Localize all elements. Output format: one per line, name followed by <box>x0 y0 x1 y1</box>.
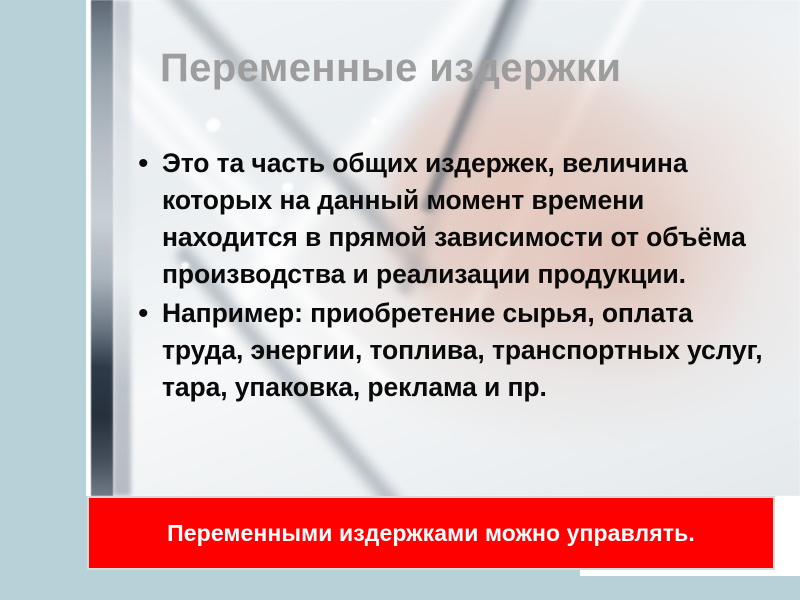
callout-banner: Переменными издержками можно управлять. <box>87 496 775 570</box>
list-item: • Это та часть общих издержек, величина … <box>138 145 766 293</box>
photo-left-accent-bar <box>91 0 113 496</box>
list-item: • Например: приобретение сырья, оплата т… <box>138 295 766 406</box>
bullet-marker-icon: • <box>138 295 162 332</box>
slide-root: Переменные издержки • Это та часть общих… <box>0 0 800 600</box>
photo-highlight-dot <box>206 118 222 134</box>
bullet-marker-icon: • <box>138 145 162 182</box>
page-title: Переменные издержки <box>160 47 780 90</box>
photo-highlight-dot <box>371 118 379 126</box>
list-item-text: Это та часть общих издержек, величина ко… <box>162 145 766 293</box>
callout-banner-text: Переменными издержками можно управлять. <box>151 518 711 548</box>
bullet-list: • Это та часть общих издержек, величина … <box>138 145 766 408</box>
list-item-text: Например: приобретение сырья, оплата тру… <box>162 295 766 406</box>
